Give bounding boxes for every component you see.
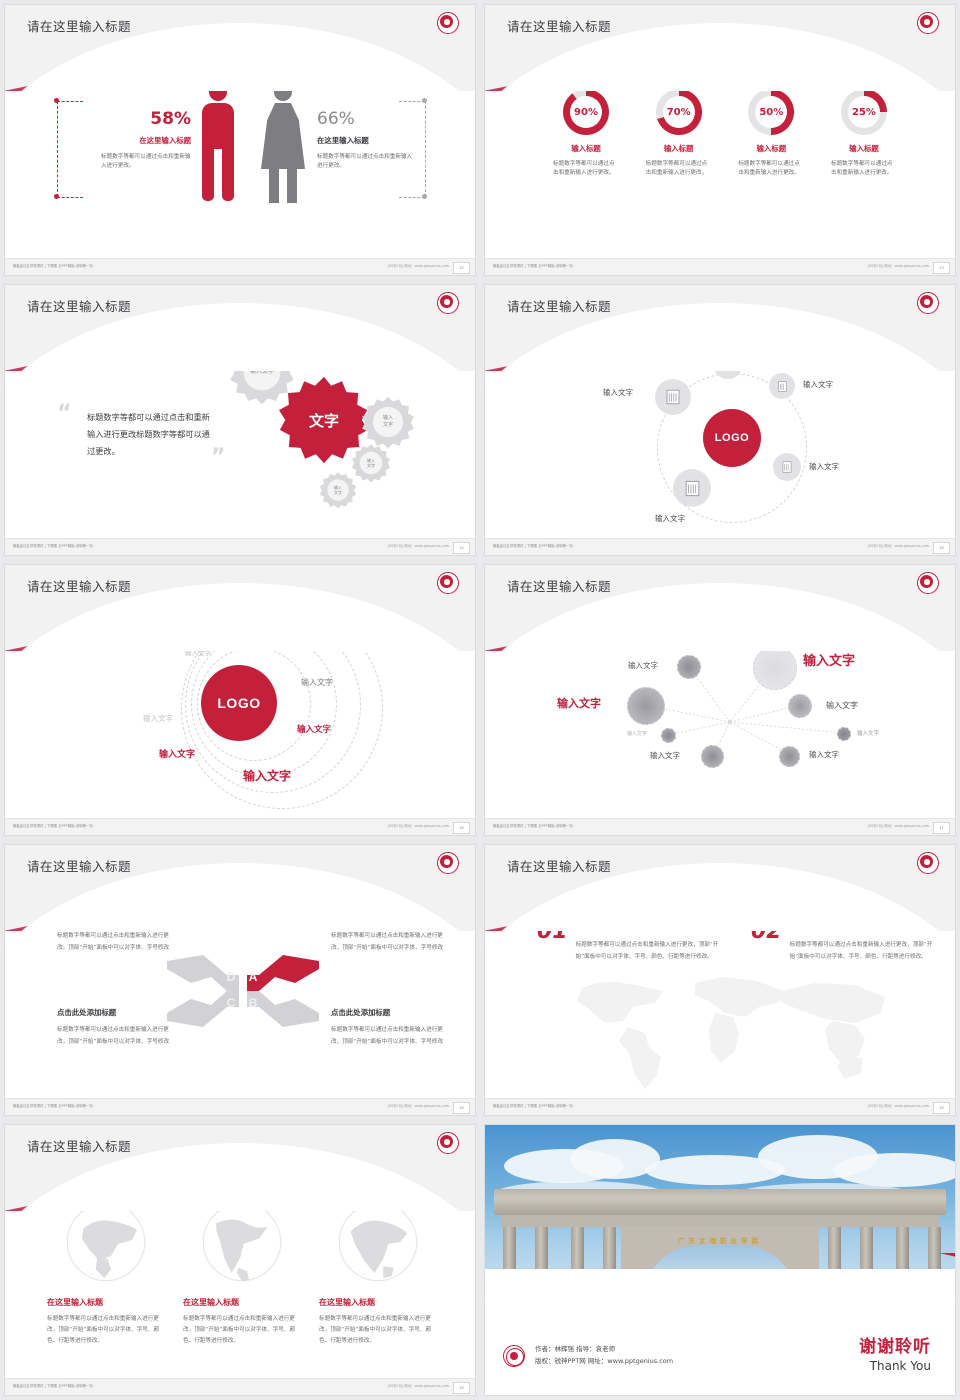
block3-body: 标题数字等都可以通过点击和重新输入进行更改，顶部“开始”面板中可以对字体、字号修… — [57, 1024, 177, 1048]
female-heading: 在这里输入标题 — [317, 135, 417, 146]
male-percent: 58% — [71, 109, 191, 129]
footer-left-text: 模板由社友学院提供 | 下载图-文PPT模板-说明第一页 — [13, 543, 93, 548]
page-number: 18 — [453, 1102, 470, 1114]
network-node[interactable] — [779, 746, 800, 767]
page-title: 请在这里输入标题 — [27, 576, 131, 595]
footer-right-text: [20年7月] 网址：www.pptgenius.com — [388, 823, 449, 828]
donut-item[interactable]: 70% 输入标题 标题数字等都可以通过点击和重新输入进行更改。 — [638, 89, 720, 178]
slide-footer: 模板由社友学院提供 | 下载图-文PPT模板-说明第一页 [20年7月] 网址：… — [5, 258, 475, 275]
gear-label: 输入文字 — [351, 443, 391, 483]
university-seal-logo — [437, 572, 459, 594]
donut-value: 25% — [841, 89, 887, 135]
footer-right-text: [20年7月] 网址：www.pptgenius.com — [388, 263, 449, 268]
university-seal-logo — [917, 12, 939, 34]
slide-deck-grid: 请在这里输入标题 58% 在这里输入标题 标题数字等都可以通过点击和重新输入进行… — [0, 0, 960, 1400]
slide-concentric[interactable]: 请在这里输入标题 LOGO 输入文字 输入文字 输入文字 输入文字 输入文字 输… — [5, 565, 475, 835]
gear-quote-text: 标题数字等都可以通过点击和重新输入进行更改标题数字等都可以通过更改。 — [87, 409, 217, 460]
network-node[interactable] — [753, 646, 797, 690]
gear-label: 输入文字 — [361, 395, 415, 449]
male-body: 标题数字等都可以通过点击和重新输入进行更改。 — [101, 153, 191, 171]
network-node[interactable] — [837, 727, 851, 741]
footer-left-text: 模板由社友学院提供 | 下载图-文PPT模板-说明第一页 — [13, 823, 93, 828]
page-title: 请在这里输入标题 — [507, 856, 611, 875]
donut-item[interactable]: 50% 输入标题 标题数字等都可以通过点击和重新输入进行更改。 — [730, 89, 812, 178]
donut-body: 标题数字等都可以通过点击和重新输入进行更改。 — [545, 160, 627, 178]
block1-body: 标题数字等都可以通过点击和重新输入进行更改，顶部“开始”面板中可以对字体、字号修… — [57, 930, 177, 954]
page-title: 请在这里输入标题 — [27, 16, 131, 35]
slide-gears[interactable]: 请在这里输入标题 “ 标题数字等都可以通过点击和重新输入进行更改标题数字等都可以… — [5, 285, 475, 555]
footer-right-text: [20年7月] 网址：www.pptgenius.com — [388, 1103, 449, 1108]
network-label-2: 输入文字 — [557, 695, 601, 711]
page-number: 13 — [933, 262, 950, 274]
copyright-line: 版权：锐神PPT网 网址：www.pptgenius.com — [535, 1355, 673, 1367]
block4-body: 标题数字等都可以通过点击和重新输入进行更改，顶部“开始”面板中可以对字体、字号修… — [331, 1024, 451, 1048]
university-seal-logo — [437, 292, 459, 314]
footer-left-text: 模板由社友学院提供 | 下载图-文PPT模板-说明第一页 — [493, 263, 573, 268]
university-seal-logo — [917, 292, 939, 314]
quote-close-icon: ” — [211, 445, 225, 470]
page-title: 请在这里输入标题 — [27, 856, 131, 875]
footer-right-text: [20年7月] 网址：www.pptgenius.com — [868, 1103, 929, 1108]
ring-label-3: 输入文字 — [301, 677, 333, 688]
slide-numbered-map[interactable]: 请在这里输入标题 01 这里输入标题 标题数字等都可以通过点击和重新输入进行更改… — [485, 845, 955, 1115]
page-number: 19 — [453, 1382, 470, 1394]
female-percent: 66% — [317, 109, 417, 129]
slide-people-percent[interactable]: 请在这里输入标题 58% 在这里输入标题 标题数字等都可以通过点击和重新输入进行… — [5, 5, 475, 275]
node-label-left: 输入文字 — [603, 387, 633, 398]
male-icon — [197, 83, 239, 203]
footer-left-text: 模板由社友学院提供 | 下载图-文PPT模板-说明第一页 — [493, 543, 573, 548]
quote-open-icon: “ — [57, 401, 71, 426]
network-node[interactable] — [788, 694, 812, 718]
donut-chart-50: 50% — [748, 89, 794, 135]
network-label-5: 输入文字 — [803, 650, 855, 669]
node-upper-right[interactable] — [769, 373, 795, 399]
footer-left-text: 模板由社友学院提供 | 下载图-文PPT模板-说明第一页 — [13, 1383, 93, 1388]
slide-thank-you[interactable]: 广东文理职业学院 作者：林辉强 指导：袁老师 版权：锐神PPT网 网址：www.… — [485, 1125, 955, 1395]
globe-item[interactable]: 在这里输入标题 标题数字等都可以通过点击和重新输入进行更改，顶部“开始”面板中可… — [319, 1199, 437, 1347]
footer-right-text: [20年7月] 网址：www.pptgenius.com — [388, 1383, 449, 1388]
donut-chart-25: 25% — [841, 89, 887, 135]
donut-value: 50% — [748, 89, 794, 135]
node-lower-right[interactable] — [773, 453, 801, 481]
thanks-cn: 谢谢聆听 — [859, 1332, 931, 1357]
footer-right-text: [20年7月] 网址：www.pptgenius.com — [868, 543, 929, 548]
ring-label-5: 输入文字 — [297, 723, 331, 735]
item1-body: 标题数字等都可以通过点击和重新输入进行更改，顶部“开始”面板中可以对字体、字号、… — [576, 939, 724, 963]
block4-heading: 点击此处添加标题 — [331, 1007, 451, 1018]
globe-icon — [335, 1199, 421, 1285]
svg-text:A: A — [249, 970, 258, 984]
network-node[interactable] — [701, 745, 724, 768]
svg-text:B: B — [249, 996, 258, 1010]
gear-right: 输入文字 — [361, 395, 415, 449]
network-label-6: 输入文字 — [826, 700, 858, 711]
donut-heading: 输入标题 — [730, 143, 812, 154]
footer-left-text: 模板由社友学院提供 | 下载图-文PPT模板-说明第一页 — [493, 1103, 573, 1108]
donut-body: 标题数字等都可以通过点击和重新输入进行更改。 — [730, 160, 812, 178]
slide-orbit-nodes[interactable]: 请在这里输入标题 LOGO 输入文字 输入文字 输入文字 输入文字 输入文字 模… — [485, 285, 955, 555]
globe-icon — [199, 1199, 285, 1285]
item2-body: 标题数字等都可以通过点击和重新输入进行更改，顶部“开始”面板中可以对字体、字号、… — [790, 939, 938, 963]
donut-value: 70% — [656, 89, 702, 135]
university-seal-logo — [437, 1132, 459, 1154]
network-label-3: 输入文字 — [627, 730, 647, 737]
ring-label-6: 输入文字 — [159, 747, 195, 760]
page-number: 17 — [933, 822, 950, 834]
footer-left-text: 模板由社友学院提供 | 下载图-文PPT模板-说明第一页 — [493, 823, 573, 828]
right-dash-bracket — [425, 101, 426, 197]
network-node[interactable] — [661, 728, 676, 743]
slide-donut-row[interactable]: 请在这里输入标题 90% 输入标题 标题数字等都可以通过点击和重新输入进行更改。… — [485, 5, 955, 275]
globe1-heading: 在这里输入标题 — [47, 1297, 165, 1308]
footer-left-text: 模板由社友学院提供 | 下载图-文PPT模板-说明第一页 — [13, 263, 93, 268]
network-node[interactable] — [627, 687, 665, 725]
page-title: 请在这里输入标题 — [27, 296, 131, 315]
university-seal-logo — [437, 12, 459, 34]
node-label-upper-right: 输入文字 — [803, 379, 833, 390]
globe3-heading: 在这里输入标题 — [319, 1297, 437, 1308]
globe-icon — [63, 1199, 149, 1285]
male-heading: 在这里输入标题 — [71, 135, 191, 146]
donut-item[interactable]: 90% 输入标题 标题数字等都可以通过点击和重新输入进行更改。 — [545, 89, 627, 178]
donut-heading: 输入标题 — [545, 143, 627, 154]
university-seal-logo — [437, 852, 459, 874]
footer-right-text: [20年7月] 网址：www.pptgenius.com — [868, 823, 929, 828]
network-label-8: 输入文字 — [809, 749, 839, 760]
globe-item[interactable]: 在这里输入标题 标题数字等都可以通过点击和重新输入进行更改，顶部“开始”面板中可… — [183, 1199, 301, 1347]
page-number: 12 — [453, 262, 470, 274]
university-seal-logo — [917, 572, 939, 594]
gear-bottom-right: 输入文字 — [351, 443, 391, 483]
page-number: 15 — [933, 542, 950, 554]
block3-heading: 点击此处添加标题 — [57, 1007, 177, 1018]
page-number: 14 — [453, 542, 470, 554]
donut-body: 标题数字等都可以通过点击和重新输入进行更改。 — [823, 160, 905, 178]
donut-chart-90: 90% — [563, 89, 609, 135]
network-node[interactable] — [677, 655, 701, 679]
donut-heading: 输入标题 — [823, 143, 905, 154]
svg-text:D: D — [227, 970, 236, 984]
network-label-1: 输入文字 — [628, 660, 658, 671]
node-label-lower-right: 输入文字 — [809, 461, 839, 472]
page-title: 请在这里输入标题 — [507, 16, 611, 35]
university-seal-logo — [917, 852, 939, 874]
block2-body: 标题数字等都可以通过点击和重新输入进行更改，顶部“开始”面板中可以对字体、字号修… — [331, 930, 451, 954]
page-title: 请在这里输入标题 — [507, 576, 611, 595]
globe1-body: 标题数字等都可以通过点击和重新输入进行更改，顶部“开始”面板中可以对字体、字号、… — [47, 1314, 165, 1347]
globe2-heading: 在这里输入标题 — [183, 1297, 301, 1308]
node-left[interactable] — [655, 379, 691, 415]
footer-right-text: [20年7月] 网址：www.pptgenius.com — [388, 543, 449, 548]
center-logo-circle: LOGO — [703, 409, 761, 467]
page-number: 16 — [453, 822, 470, 834]
donut-heading: 输入标题 — [638, 143, 720, 154]
ring-label-4: 输入文字 — [143, 713, 173, 724]
abcd-arrow-graphic: D A C B — [165, 945, 321, 1037]
donut-item[interactable]: 25% 输入标题 标题数字等都可以通过点击和重新输入进行更改。 — [823, 89, 905, 178]
page-title: 请在这里输入标题 — [507, 296, 611, 315]
author-line: 作者：林辉强 指导：袁老师 — [535, 1343, 673, 1355]
slide-globes[interactable]: 请在这里输入标题 在这里输入标题 标题数字等都可以通过点击和重新输入进行更改，顶… — [5, 1125, 475, 1395]
gate-name-text: 广东文理职业学院 — [494, 1235, 945, 1245]
center-logo-circle: LOGO — [201, 665, 277, 741]
page-number: 19 — [933, 1102, 950, 1114]
donut-value: 90% — [563, 89, 609, 135]
left-dash-bracket — [57, 101, 58, 197]
slide-network[interactable]: 请在这里输入标题 输入文字 输入文字 输入文字 输入文字 输入文字 输入文字 输… — [485, 565, 955, 835]
page-title: 请在这里输入标题 — [27, 1136, 131, 1155]
svg-text:C: C — [227, 996, 236, 1010]
donut-chart-70: 70% — [656, 89, 702, 135]
network-label-7: 输入文字 — [857, 729, 879, 737]
slide-arrows-abcd[interactable]: 请在这里输入标题 点击此处添加标题 标题数字等都可以通过点击和重新输入进行更改，… — [5, 845, 475, 1115]
university-seal-logo — [503, 1345, 525, 1367]
female-icon — [259, 83, 307, 203]
thanks-en: Thank You — [859, 1359, 931, 1373]
female-body: 标题数字等都可以通过点击和重新输入进行更改。 — [317, 153, 417, 171]
globe-item[interactable]: 在这里输入标题 标题数字等都可以通过点击和重新输入进行更改，顶部“开始”面板中可… — [47, 1199, 165, 1347]
footer-left-text: 模板由社友学院提供 | 下载图-文PPT模板-说明第一页 — [13, 1103, 93, 1108]
footer-right-text: [20年7月] 网址：www.pptgenius.com — [868, 263, 929, 268]
network-label-4: 输入文字 — [650, 750, 680, 761]
donut-body: 标题数字等都可以通过点击和重新输入进行更改。 — [638, 160, 720, 178]
